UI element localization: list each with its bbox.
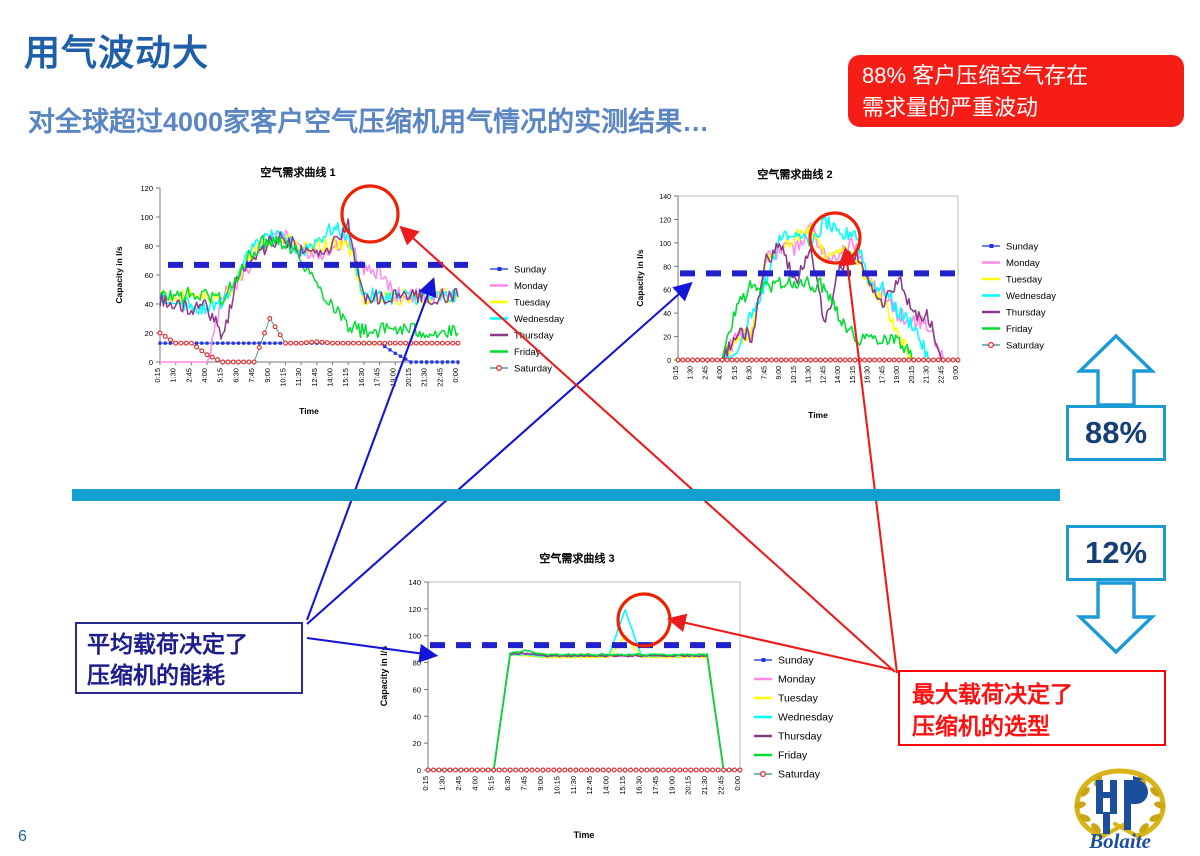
chart2-series-monday	[678, 223, 958, 360]
chart1-legend-label: Friday	[514, 347, 541, 358]
callout-average-load: 平均载荷决定了 压缩机的能耗	[75, 622, 303, 694]
chart1-x-tick-label: 4:00	[200, 368, 209, 383]
chart2-marker-saturday	[809, 358, 813, 362]
chart2-legend-label: Thursday	[1006, 308, 1046, 319]
chart3-series-monday	[428, 653, 740, 770]
chart2-marker-saturday	[730, 358, 734, 362]
chart1-marker-saturday	[414, 341, 418, 345]
chart3-x-axis-label: Time	[574, 830, 595, 840]
chart1-marker-saturday	[399, 341, 403, 345]
chart2-marker-saturday	[868, 358, 872, 362]
chart2-marker-saturday	[696, 358, 700, 362]
chart3-marker-saturday	[459, 768, 463, 772]
chart3-legend-label: Sunday	[778, 655, 814, 667]
chart3-marker-saturday	[733, 768, 737, 772]
chart3-x-tick-label: 7:45	[520, 776, 529, 791]
percent-12-box: 12%	[1066, 525, 1166, 581]
chart1-marker-sunday	[221, 342, 224, 345]
chart3-marker-saturday	[640, 768, 644, 772]
chart2-x-tick-label: 22:45	[938, 366, 945, 384]
chart2-x-tick-label: 0:15	[673, 366, 680, 380]
chart3-marker-saturday	[705, 768, 709, 772]
chart3-series-friday	[428, 650, 740, 770]
chart2-marker-saturday	[887, 358, 891, 362]
chart2-marker-saturday	[819, 358, 823, 362]
chart1-title: 空气需求曲线 1	[260, 165, 335, 179]
chart1-marker-sunday	[273, 342, 276, 345]
chart2-marker-saturday	[843, 358, 847, 362]
chart1-y-tick-label: 100	[140, 213, 153, 222]
chart2-marker-saturday	[873, 358, 877, 362]
chart2-marker-saturday	[735, 358, 739, 362]
chart3-marker-saturday	[612, 768, 616, 772]
chart3-legend-marker	[761, 772, 766, 777]
callout-max-load: 最大载荷决定了 压缩机的选型	[898, 670, 1166, 746]
chart2-y-tick-label: 140	[659, 194, 671, 201]
chart2-marker-saturday	[701, 358, 705, 362]
chart2-marker-saturday	[676, 358, 680, 362]
chart3-marker-saturday	[694, 768, 698, 772]
chart2-x-tick-label: 5:15	[732, 366, 739, 380]
chart1-marker-saturday	[257, 346, 261, 350]
chart1-marker-sunday	[420, 360, 423, 363]
chart1-x-tick-label: 1:30	[169, 368, 178, 383]
chart1-x-tick-label: 21:30	[420, 368, 429, 387]
chart1-marker-sunday	[279, 342, 282, 345]
chart2-x-axis-label: Time	[808, 410, 828, 420]
chart1-marker-saturday	[184, 341, 188, 345]
chart2-marker-saturday	[848, 358, 852, 362]
chart3-marker-saturday	[563, 768, 567, 772]
chart3-title: 空气需求曲线 3	[539, 551, 614, 565]
chart3-y-tick-label: 120	[408, 605, 421, 614]
chart1-marker-saturday	[242, 360, 246, 364]
chart2-marker-saturday	[706, 358, 710, 362]
chart3-marker-saturday	[651, 768, 655, 772]
chart1-marker-saturday	[210, 355, 214, 359]
chart3-marker-saturday	[432, 768, 436, 772]
chart3-marker-saturday	[437, 768, 441, 772]
chart-air-demand-1: 空气需求曲线 1020406080100120Capacity in l/s0:…	[108, 162, 588, 422]
chart1-marker-sunday	[216, 342, 219, 345]
chart2-x-tick-label: 7:45	[761, 366, 768, 380]
chart3-marker-saturday	[536, 768, 540, 772]
chart2-x-tick-label: 6:30	[747, 366, 754, 380]
chart3-x-tick-label: 0:00	[733, 776, 742, 791]
chart1-marker-saturday	[163, 334, 167, 338]
chart2-marker-saturday	[760, 358, 764, 362]
chart1-marker-saturday	[200, 349, 204, 353]
chart2-x-tick-label: 17:45	[879, 366, 886, 384]
chart1-marker-saturday	[383, 341, 387, 345]
chart3-x-tick-label: 6:30	[503, 776, 512, 791]
chart3-marker-saturday	[601, 768, 605, 772]
chart3-marker-saturday	[481, 768, 485, 772]
chart3-y-tick-label: 20	[413, 739, 421, 748]
badge-line-1: 88% 客户压缩空气存在	[862, 60, 1184, 92]
chart1-marker-sunday	[388, 348, 391, 351]
chart1-legend-label: Sunday	[514, 265, 546, 276]
chart1-marker-sunday	[253, 342, 256, 345]
chart1-marker-saturday	[315, 340, 319, 344]
chart1-marker-saturday	[205, 353, 209, 357]
chart2-marker-saturday	[710, 358, 714, 362]
chart2-marker-saturday	[932, 358, 936, 362]
chart3-marker-saturday	[557, 768, 561, 772]
chart3-x-tick-label: 20:15	[684, 776, 693, 795]
chart2-marker-saturday	[941, 358, 945, 362]
chart3-marker-saturday	[590, 768, 594, 772]
chart1-marker-saturday	[268, 317, 272, 321]
chart1-legend-marker	[498, 267, 502, 271]
chart2-y-tick-label: 120	[659, 217, 671, 224]
chart2-marker-saturday	[779, 358, 783, 362]
callout-red-line-1: 最大载荷决定了	[912, 678, 1164, 710]
chart2-legend-label: Monday	[1006, 258, 1040, 269]
chart3-marker-saturday	[579, 768, 583, 772]
chart1-marker-sunday	[242, 342, 245, 345]
chart1-x-tick-label: 10:15	[278, 368, 287, 387]
chart1-x-axis-label: Time	[299, 406, 319, 416]
chart1-marker-sunday	[415, 360, 418, 363]
chart3-marker-saturday	[738, 768, 742, 772]
chart2-y-tick-label: 100	[659, 241, 671, 248]
chart2-marker-saturday	[686, 358, 690, 362]
percentage-stack: 88% 12%	[1062, 333, 1170, 658]
percent-88-box: 88%	[1066, 405, 1166, 461]
chart2-marker-saturday	[838, 358, 842, 362]
percent-88-value: 88%	[1085, 415, 1147, 451]
chart2-marker-saturday	[681, 358, 685, 362]
chart2-x-tick-label: 0:00	[953, 366, 960, 380]
chart2-series-tuesday	[678, 225, 958, 360]
chart3-marker-saturday	[568, 768, 572, 772]
chart2-x-tick-label: 2:45	[702, 366, 709, 380]
chart1-x-tick-label: 7:45	[247, 368, 256, 383]
chart1-marker-sunday	[409, 360, 412, 363]
chart2-marker-saturday	[740, 358, 744, 362]
chart3-marker-saturday	[525, 768, 529, 772]
chart1-marker-saturday	[294, 341, 298, 345]
arrow-up-icon	[1076, 333, 1156, 407]
chart2-marker-saturday	[882, 358, 886, 362]
chart2-marker-saturday	[814, 358, 818, 362]
chart3-marker-saturday	[596, 768, 600, 772]
chart1-marker-saturday	[179, 341, 183, 345]
chart3-x-tick-label: 5:15	[487, 776, 496, 791]
chart1-marker-saturday	[325, 341, 329, 345]
page-subtitle: 对全球超过4000家客户空气压缩机用气情况的实测结果…	[28, 100, 709, 139]
chart1-x-tick-label: 0:15	[153, 368, 162, 383]
chart1-y-tick-label: 80	[145, 242, 153, 251]
chart2-x-tick-label: 12:45	[820, 366, 827, 384]
chart1-marker-saturday	[362, 341, 366, 345]
chart1-x-tick-label: 16:30	[357, 368, 366, 387]
chart3-y-tick-label: 140	[408, 578, 421, 587]
chart1-marker-sunday	[451, 360, 454, 363]
chart1-series-thursday	[160, 219, 458, 339]
chart3-marker-saturday	[727, 768, 731, 772]
chart2-marker-saturday	[897, 358, 901, 362]
badge-line-2: 需求量的严重波动	[862, 92, 1184, 124]
chart2-marker-saturday	[956, 358, 960, 362]
chart1-marker-saturday	[216, 358, 220, 362]
chart3-y-tick-label: 40	[413, 712, 421, 721]
chart1-y-axis-label: Capacity in l/s	[114, 246, 124, 303]
chart1-marker-saturday	[420, 341, 424, 345]
chart3-legend-label: Friday	[778, 750, 808, 762]
chart1-marker-sunday	[205, 342, 208, 345]
chart2-y-tick-label: 40	[663, 311, 671, 318]
percent-12-value: 12%	[1085, 535, 1147, 571]
chart2-marker-saturday	[745, 358, 749, 362]
chart1-x-tick-label: 2:45	[184, 368, 193, 383]
chart1-marker-saturday	[263, 331, 267, 335]
highlight-badge: 88% 客户压缩空气存在 需求量的严重波动	[848, 55, 1184, 127]
chart1-marker-saturday	[299, 341, 303, 345]
chart1-peak-circle	[342, 186, 398, 242]
chart1-marker-sunday	[247, 342, 250, 345]
chart1-marker-sunday	[164, 342, 167, 345]
chart3-marker-saturday	[508, 768, 512, 772]
logo-wordmark: Bolaite	[1088, 829, 1151, 852]
chart2-x-tick-label: 21:30	[924, 366, 931, 384]
chart1-legend-marker	[497, 366, 502, 371]
chart2-marker-saturday	[853, 358, 857, 362]
chart3-x-tick-label: 22:45	[717, 776, 726, 795]
chart1-x-tick-label: 14:00	[326, 368, 335, 387]
chart3-marker-saturday	[683, 768, 687, 772]
chart3-marker-saturday	[700, 768, 704, 772]
chart3-series-wednesday	[428, 610, 740, 770]
chart2-marker-saturday	[725, 358, 729, 362]
chart1-marker-saturday	[195, 345, 199, 349]
page-title: 用气波动大	[24, 24, 209, 76]
chart3-marker-saturday	[623, 768, 627, 772]
chart2-marker-saturday	[902, 358, 906, 362]
chart1-marker-sunday	[158, 342, 161, 345]
chart2-marker-saturday	[750, 358, 754, 362]
chart1-marker-sunday	[394, 352, 397, 355]
chart2-marker-saturday	[892, 358, 896, 362]
chart2-legend-label: Friday	[1006, 324, 1033, 335]
chart3-marker-saturday	[661, 768, 665, 772]
chart1-legend-label: Tuesday	[514, 298, 550, 309]
chart2-legend-label: Saturday	[1006, 341, 1044, 352]
chart3-y-tick-label: 0	[417, 766, 421, 775]
chart3-marker-saturday	[497, 768, 501, 772]
chart3-marker-saturday	[448, 768, 452, 772]
chart3-x-tick-label: 14:00	[602, 776, 611, 795]
chart2-y-tick-label: 20	[663, 335, 671, 342]
chart2-y-tick-label: 60	[663, 288, 671, 295]
chart2-x-tick-label: 20:15	[909, 366, 916, 384]
chart3-x-tick-label: 21:30	[700, 776, 709, 795]
chart2-marker-saturday	[823, 358, 827, 362]
chart1-marker-saturday	[331, 341, 335, 345]
chart3-marker-saturday	[519, 768, 523, 772]
chart2-marker-saturday	[863, 358, 867, 362]
chart1-marker-saturday	[430, 341, 434, 345]
chart3-x-tick-label: 1:30	[437, 776, 446, 791]
chart2-marker-saturday	[769, 358, 773, 362]
chart2-legend-label: Tuesday	[1006, 275, 1042, 286]
chart1-marker-saturday	[221, 360, 225, 364]
callout-red-line-2: 压缩机的选型	[912, 710, 1164, 742]
chart2-y-axis-label: Capacity in l/s	[635, 249, 645, 306]
chart1-marker-saturday	[435, 341, 439, 345]
chart1-marker-sunday	[195, 342, 198, 345]
chart1-marker-sunday	[430, 360, 433, 363]
chart1-marker-saturday	[393, 341, 397, 345]
chart3-x-tick-label: 4:00	[470, 776, 479, 791]
chart3-legend-label: Monday	[778, 674, 816, 686]
chart1-marker-saturday	[247, 360, 251, 364]
chart3-legend-label: Wednesday	[778, 712, 834, 724]
bolaite-logo: Bolaite	[1055, 762, 1185, 852]
chart1-marker-saturday	[252, 360, 256, 364]
chart1-x-tick-label: 6:30	[231, 368, 240, 383]
chart3-x-tick-label: 9:00	[536, 776, 545, 791]
chart1-marker-sunday	[404, 358, 407, 361]
chart1-y-tick-label: 120	[140, 184, 153, 193]
chart3-marker-saturday	[514, 768, 518, 772]
chart1-marker-sunday	[268, 342, 271, 345]
chart1-marker-sunday	[237, 342, 240, 345]
chart3-marker-saturday	[552, 768, 556, 772]
chart2-x-tick-label: 4:00	[717, 366, 724, 380]
arrow-down-icon	[1076, 581, 1156, 655]
chart3-x-tick-label: 19:00	[667, 776, 676, 795]
chart1-marker-saturday	[304, 341, 308, 345]
chart2-marker-saturday	[907, 358, 911, 362]
chart3-marker-saturday	[492, 768, 496, 772]
chart3-marker-saturday	[634, 768, 638, 772]
chart2-x-tick-label: 16:30	[865, 366, 872, 384]
chart2-x-tick-label: 1:30	[688, 366, 695, 380]
chart3-marker-saturday	[475, 768, 479, 772]
chart1-marker-sunday	[263, 342, 266, 345]
chart3-marker-saturday	[503, 768, 507, 772]
chart3-x-tick-label: 0:15	[421, 776, 430, 791]
chart1-marker-saturday	[357, 341, 361, 345]
chart1-marker-saturday	[352, 341, 356, 345]
chart3-marker-saturday	[656, 768, 660, 772]
chart1-x-tick-label: 15:15	[341, 368, 350, 387]
chart2-legend-marker	[989, 343, 994, 348]
chart2-marker-saturday	[828, 358, 832, 362]
chart3-series-thursday	[428, 653, 740, 770]
chart1-marker-saturday	[336, 341, 340, 345]
chart2-x-tick-label: 19:00	[894, 366, 901, 384]
chart2-x-tick-label: 10:15	[791, 366, 798, 384]
chart2-svg: 空气需求曲线 2020406080100120140Capacity in l/…	[630, 162, 1080, 422]
chart1-x-tick-label: 12:45	[310, 368, 319, 387]
chart1-legend-label: Monday	[514, 281, 548, 292]
chart3-y-tick-label: 100	[408, 632, 421, 641]
chart1-marker-saturday	[310, 340, 314, 344]
chart1-marker-saturday	[320, 340, 324, 344]
chart3-legend-marker	[762, 658, 766, 662]
chart1-marker-saturday	[273, 325, 277, 329]
chart2-y-tick-label: 0	[667, 358, 671, 365]
chart1-x-tick-label: 19:00	[388, 368, 397, 387]
chart1-marker-sunday	[446, 360, 449, 363]
chart3-marker-saturday	[607, 768, 611, 772]
page-number: 6	[18, 828, 27, 846]
chart3-marker-saturday	[618, 768, 622, 772]
chart1-marker-sunday	[441, 360, 444, 363]
chart2-marker-saturday	[946, 358, 950, 362]
slide-root: 用气波动大 对全球超过4000家客户空气压缩机用气情况的实测结果… 88% 客户…	[0, 0, 1200, 856]
chart3-legend-label: Saturday	[778, 769, 821, 781]
chart2-marker-saturday	[774, 358, 778, 362]
chart3-x-tick-label: 12:45	[585, 776, 594, 795]
chart2-x-tick-label: 11:30	[806, 366, 813, 383]
chart3-legend-label: Thursday	[778, 731, 823, 743]
chart1-marker-saturday	[169, 338, 173, 342]
chart1-x-tick-label: 20:15	[404, 368, 413, 387]
chart2-marker-saturday	[789, 358, 793, 362]
chart1-marker-sunday	[200, 342, 203, 345]
chart3-marker-saturday	[645, 768, 649, 772]
chart2-marker-saturday	[755, 358, 759, 362]
chart3-marker-saturday	[574, 768, 578, 772]
chart1-marker-sunday	[435, 360, 438, 363]
chart3-x-tick-label: 11:30	[569, 776, 578, 794]
chart1-marker-saturday	[278, 333, 282, 337]
chart1-marker-saturday	[378, 341, 382, 345]
chart2-x-tick-label: 15:15	[850, 366, 857, 384]
chart3-marker-saturday	[716, 768, 720, 772]
chart1-y-tick-label: 20	[145, 329, 153, 338]
chart3-marker-saturday	[547, 768, 551, 772]
chart2-marker-saturday	[878, 358, 882, 362]
chart3-marker-saturday	[426, 768, 430, 772]
chart1-marker-saturday	[289, 341, 293, 345]
chart3-marker-saturday	[453, 768, 457, 772]
chart2-marker-saturday	[833, 358, 837, 362]
chart3-y-tick-label: 80	[413, 659, 421, 668]
chart3-x-tick-label: 16:30	[634, 776, 643, 795]
chart-air-demand-2: 空气需求曲线 2020406080100120140Capacity in l/…	[630, 162, 1080, 422]
chart1-marker-saturday	[425, 341, 429, 345]
chart3-marker-saturday	[585, 768, 589, 772]
chart2-y-tick-label: 80	[663, 264, 671, 271]
chart1-marker-saturday	[341, 341, 345, 345]
chart2-title: 空气需求曲线 2	[757, 167, 832, 181]
chart3-x-tick-label: 10:15	[552, 776, 561, 795]
chart3-y-tick-label: 60	[413, 685, 421, 694]
chart2-marker-saturday	[794, 358, 798, 362]
chart3-marker-saturday	[541, 768, 545, 772]
chart1-x-tick-label: 22:45	[435, 368, 444, 387]
chart-air-demand-3: 空气需求曲线 3020406080100120140Capacity in l/…	[372, 542, 872, 842]
chart1-marker-saturday	[388, 341, 392, 345]
chart1-series-saturday	[160, 319, 458, 363]
chart1-marker-saturday	[456, 341, 460, 345]
chart1-y-tick-label: 40	[145, 300, 153, 309]
chart2-marker-saturday	[804, 358, 808, 362]
chart3-legend-label: Tuesday	[778, 693, 819, 705]
chart1-y-tick-label: 0	[149, 358, 153, 367]
chart1-marker-saturday	[372, 341, 376, 345]
chart1-marker-saturday	[404, 341, 408, 345]
chart1-marker-saturday	[451, 341, 455, 345]
chart1-svg: 空气需求曲线 1020406080100120Capacity in l/s0:…	[108, 162, 588, 422]
chart1-marker-saturday	[440, 341, 444, 345]
callout-blue-line-1: 平均载荷决定了	[87, 629, 301, 660]
